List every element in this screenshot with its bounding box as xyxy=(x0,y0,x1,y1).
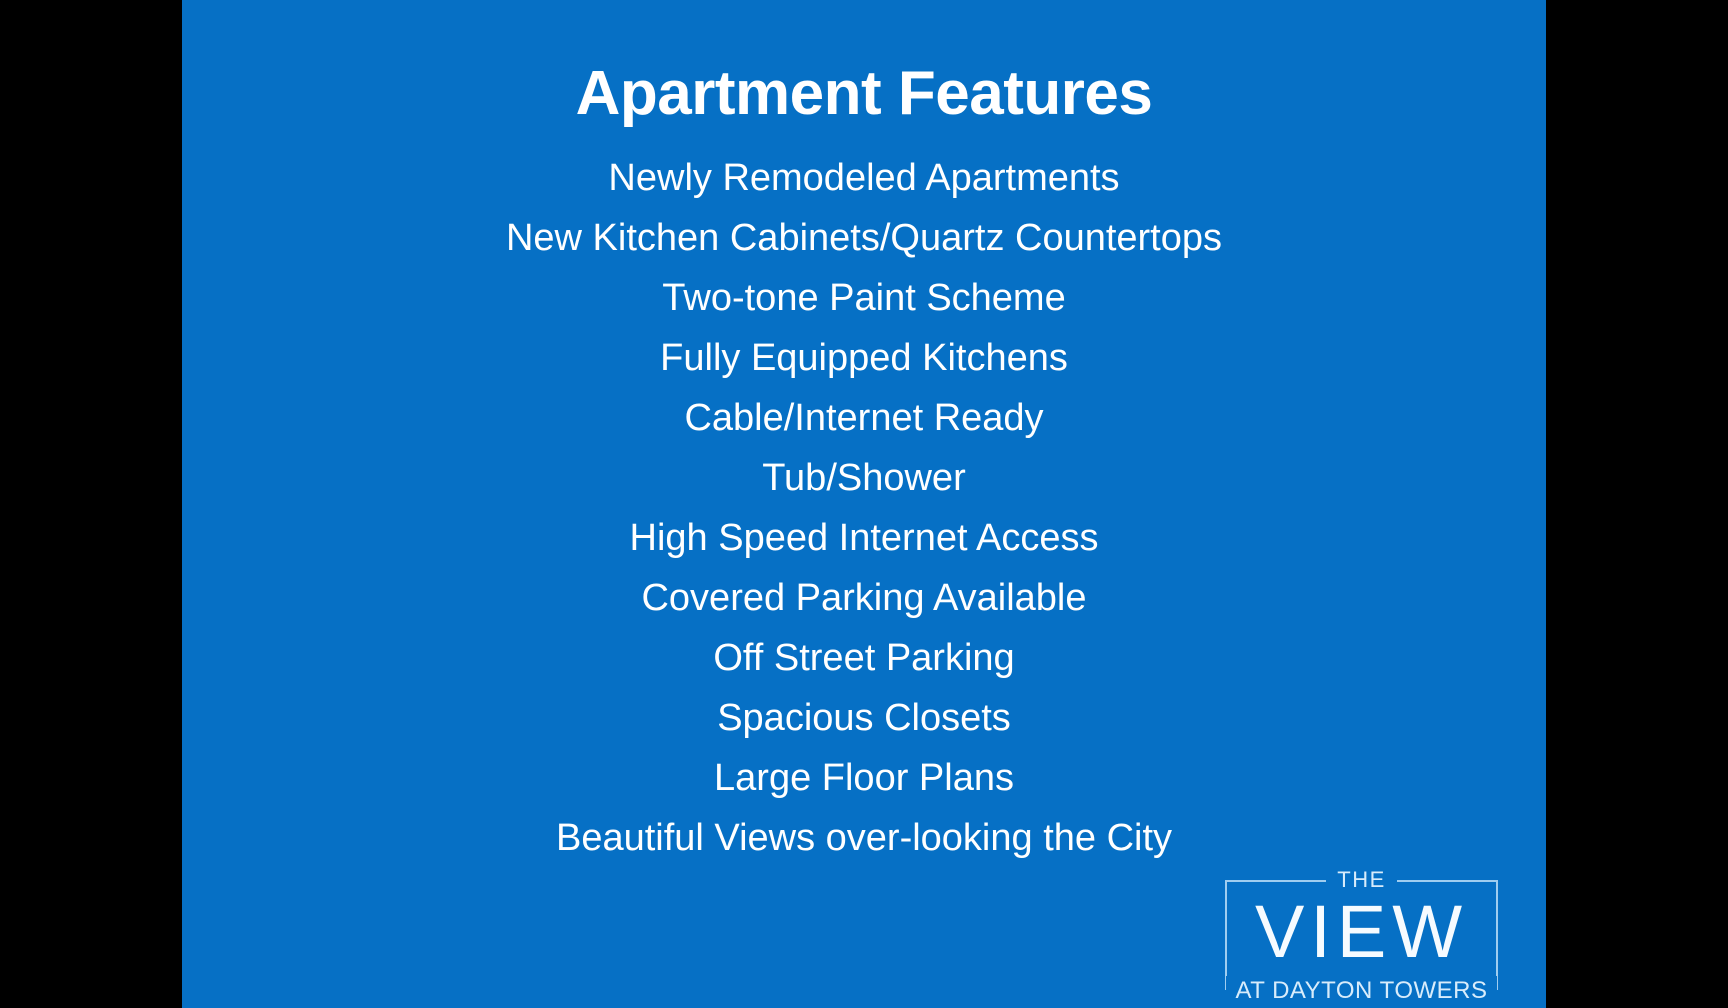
slide-title: Apartment Features xyxy=(182,63,1546,125)
brand-logo: THE VIEW AT DAYTON TOWERS xyxy=(1225,880,1498,990)
list-item: Large Floor Plans xyxy=(182,748,1546,808)
logo-subtitle-text: AT DAYTON TOWERS xyxy=(1226,976,1496,1006)
list-item: Two-tone Paint Scheme xyxy=(182,268,1546,328)
list-item: Spacious Closets xyxy=(182,688,1546,748)
list-item: Tub/Shower xyxy=(182,448,1546,508)
letterbox-bar-left xyxy=(0,0,182,1008)
letterbox-bar-right xyxy=(1546,0,1728,1008)
logo-subtitle-line: AT DAYTON TOWERS xyxy=(1225,976,1498,1006)
list-item: Covered Parking Available xyxy=(182,568,1546,628)
list-item: Newly Remodeled Apartments xyxy=(182,148,1546,208)
list-item: High Speed Internet Access xyxy=(182,508,1546,568)
list-item: New Kitchen Cabinets/Quartz Countertops xyxy=(182,208,1546,268)
slide-canvas: Apartment Features Newly Remodeled Apart… xyxy=(182,0,1546,1008)
list-item: Off Street Parking xyxy=(182,628,1546,688)
logo-view-text: VIEW xyxy=(1225,892,1498,972)
list-item: Cable/Internet Ready xyxy=(182,388,1546,448)
list-item: Beautiful Views over-looking the City xyxy=(182,808,1546,868)
slide-stage: Apartment Features Newly Remodeled Apart… xyxy=(0,0,1728,1008)
apartment-features-list: Newly Remodeled Apartments New Kitchen C… xyxy=(182,148,1546,868)
list-item: Fully Equipped Kitchens xyxy=(182,328,1546,388)
